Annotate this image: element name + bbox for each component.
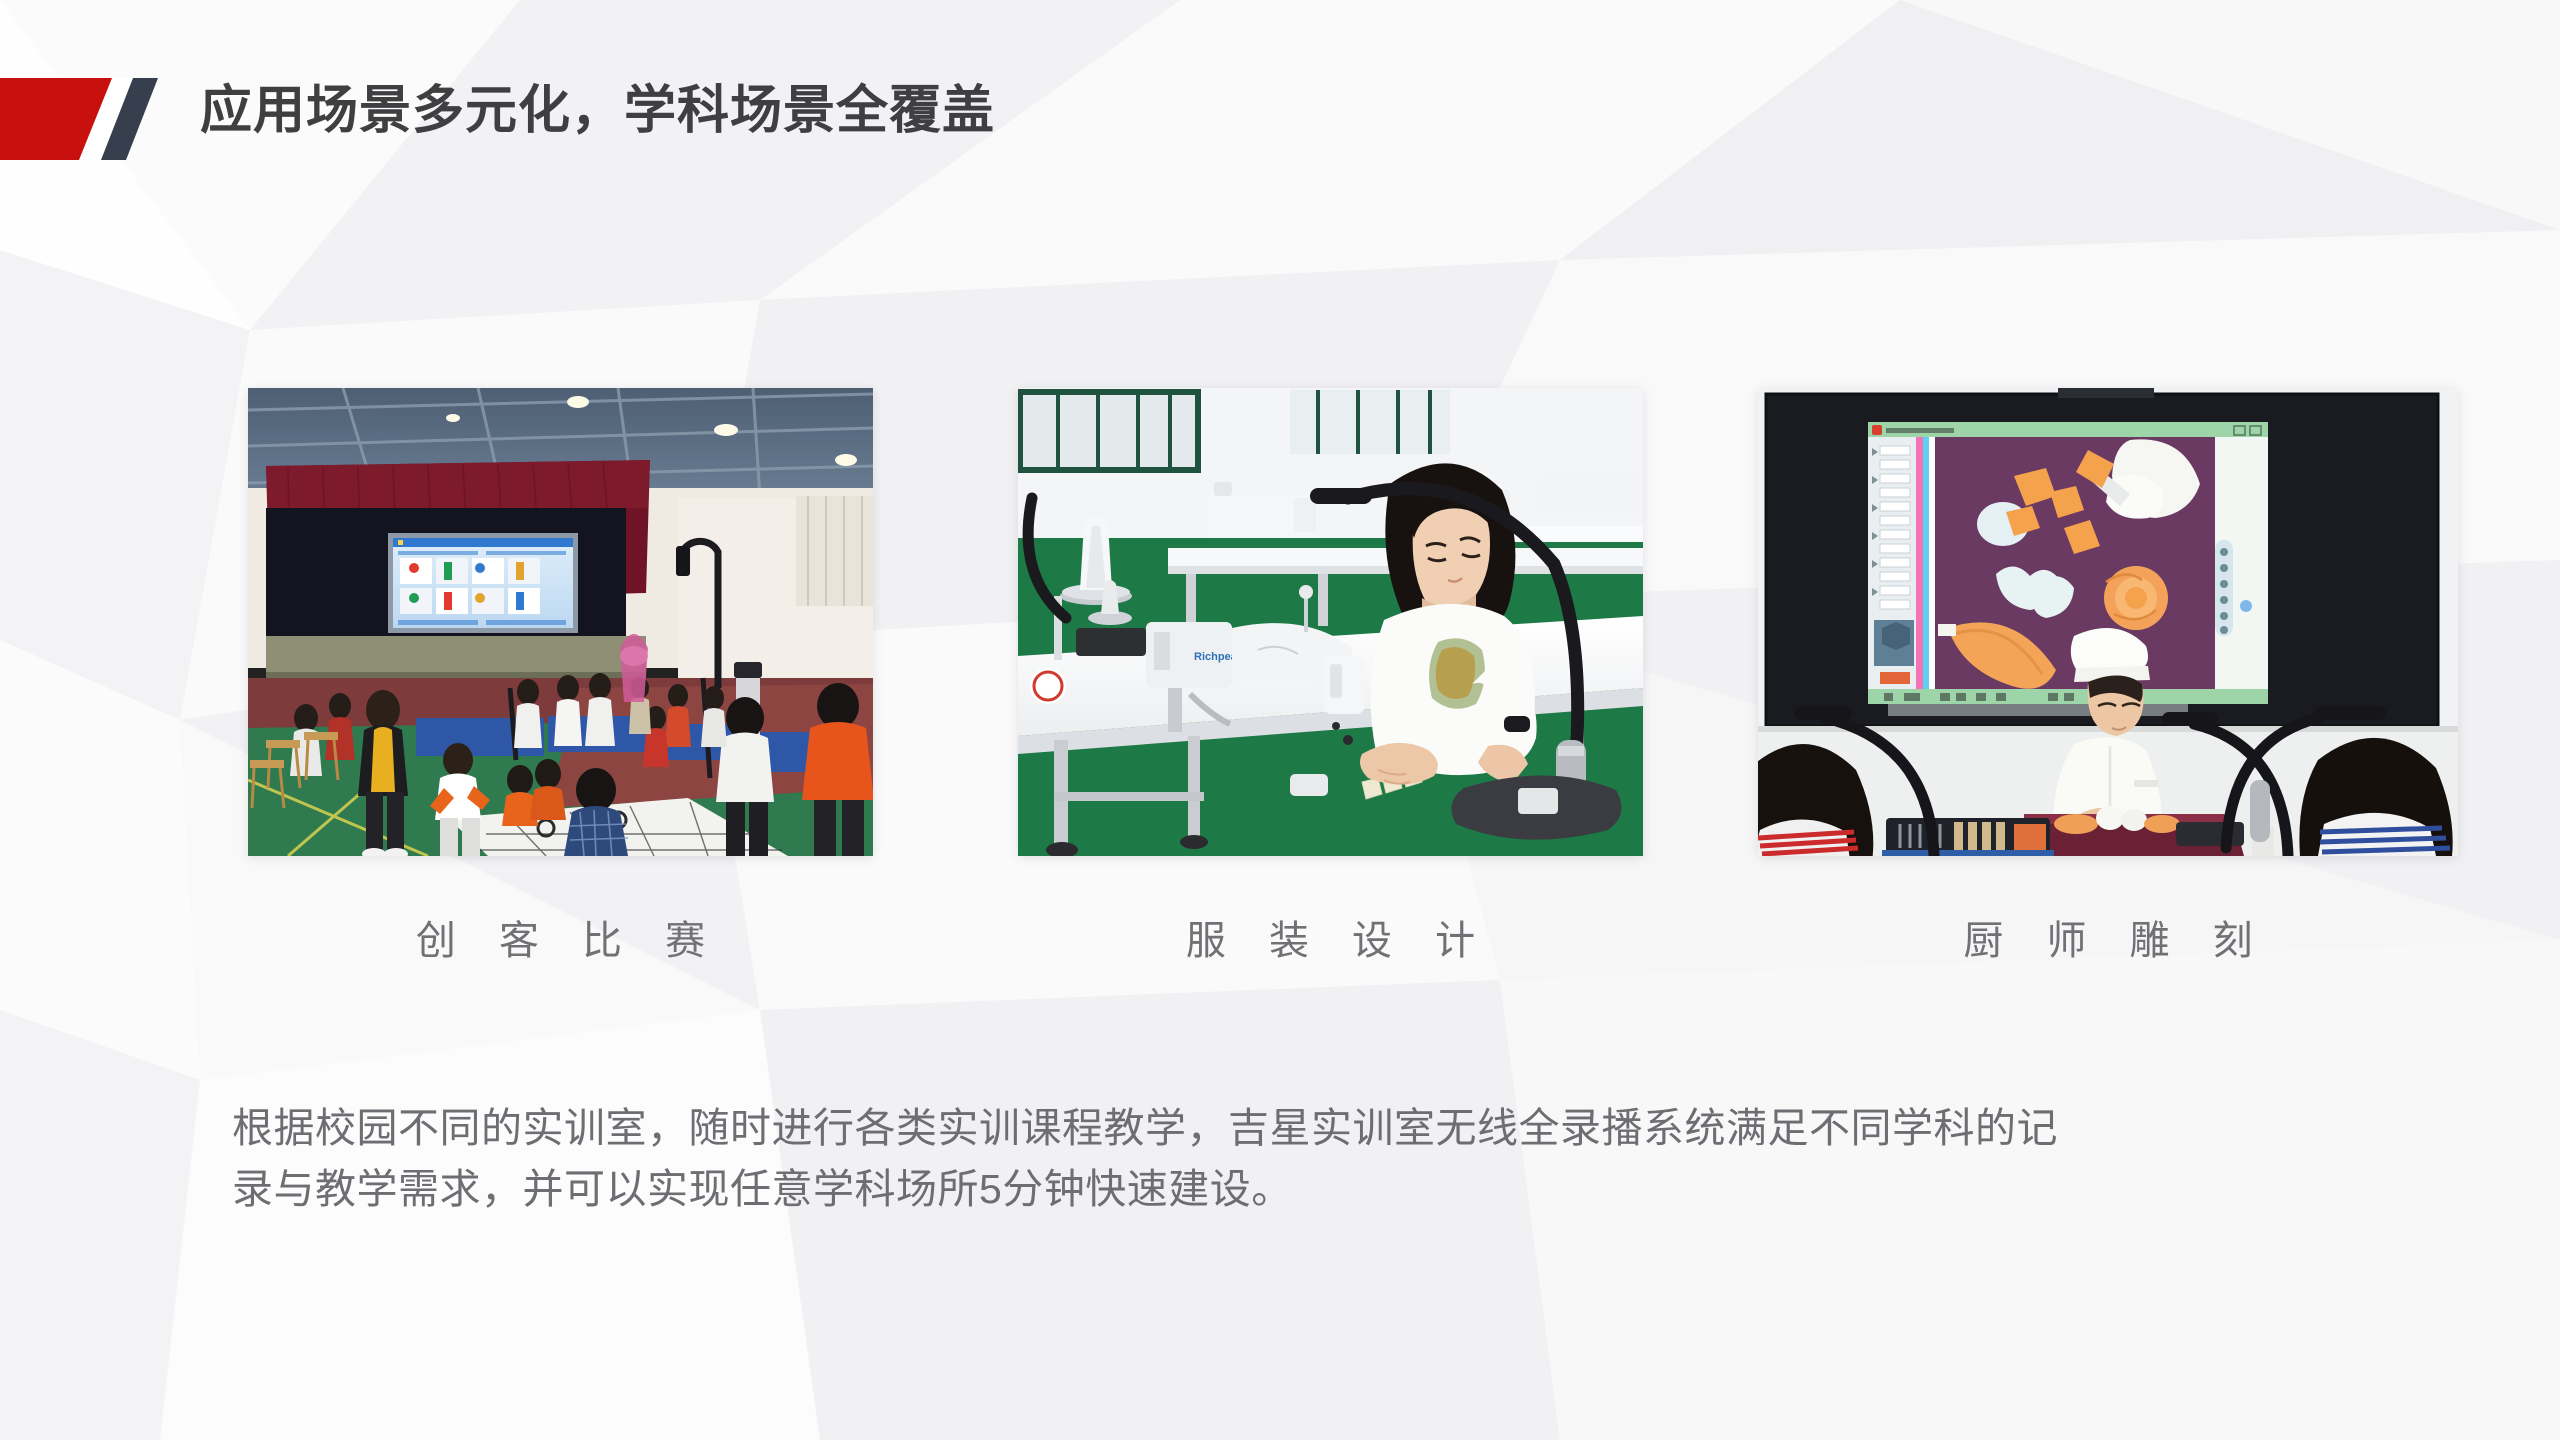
- slide-header: 应用场景多元化，学科场景全覆盖: [0, 0, 2560, 200]
- gallery-photo-row: Richpeace: [0, 388, 2560, 858]
- gallery-image-chef-carving[interactable]: [1758, 388, 2458, 856]
- page-title: 应用场景多元化，学科场景全覆盖: [200, 82, 995, 140]
- gallery-caption-chef-carving: 厨 师 雕 刻: [1758, 908, 2458, 966]
- gallery-caption-fashion-design: 服 装 设 计: [1018, 908, 1643, 966]
- gallery-image-maker-competition[interactable]: [248, 388, 873, 856]
- body-paragraph: 根据校园不同的实训室，随时进行各类实训课程教学，吉星实训室无线全录播系统满足不同…: [232, 1098, 2362, 1219]
- gallery-image-fashion-design[interactable]: Richpeace: [1018, 388, 1643, 856]
- title-decoration-badge: [0, 78, 160, 160]
- body-line-1: 根据校园不同的实训室，随时进行各类实训课程教学，吉星实训室无线全录播系统满足不同…: [232, 1098, 2362, 1159]
- presentation-slide: 应用场景多元化，学科场景全覆盖: [0, 0, 2560, 1440]
- gallery-caption-maker-competition: 创 客 比 赛: [248, 908, 873, 966]
- body-line-2: 录与教学需求，并可以实现任意学科场所5分钟快速建设。: [232, 1159, 2362, 1220]
